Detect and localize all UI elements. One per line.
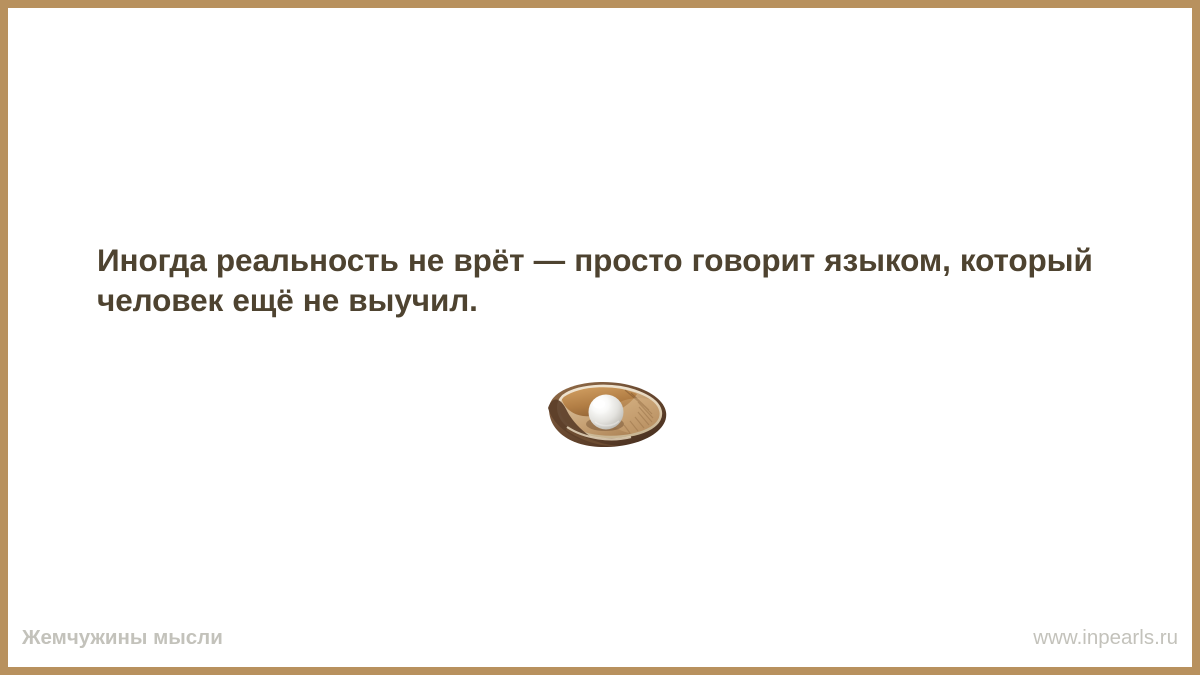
quote-block: Иногда реальность не врёт — просто говор… bbox=[97, 240, 1117, 320]
pearl-specular bbox=[593, 400, 605, 409]
oyster-shell-with-pearl-illustration bbox=[539, 376, 673, 452]
site-url-label[interactable]: www.inpearls.ru bbox=[1033, 623, 1178, 653]
oyster-shell-icon bbox=[539, 376, 673, 452]
quote-text: Иногда реальность не врёт — просто говор… bbox=[97, 240, 1117, 320]
site-brand-label: Жемчужины мысли bbox=[22, 623, 223, 653]
quote-card: Иногда реальность не врёт — просто говор… bbox=[0, 0, 1200, 675]
pearl-highlight bbox=[589, 395, 624, 430]
footer: Жемчужины мысли www.inpearls.ru bbox=[8, 623, 1192, 653]
